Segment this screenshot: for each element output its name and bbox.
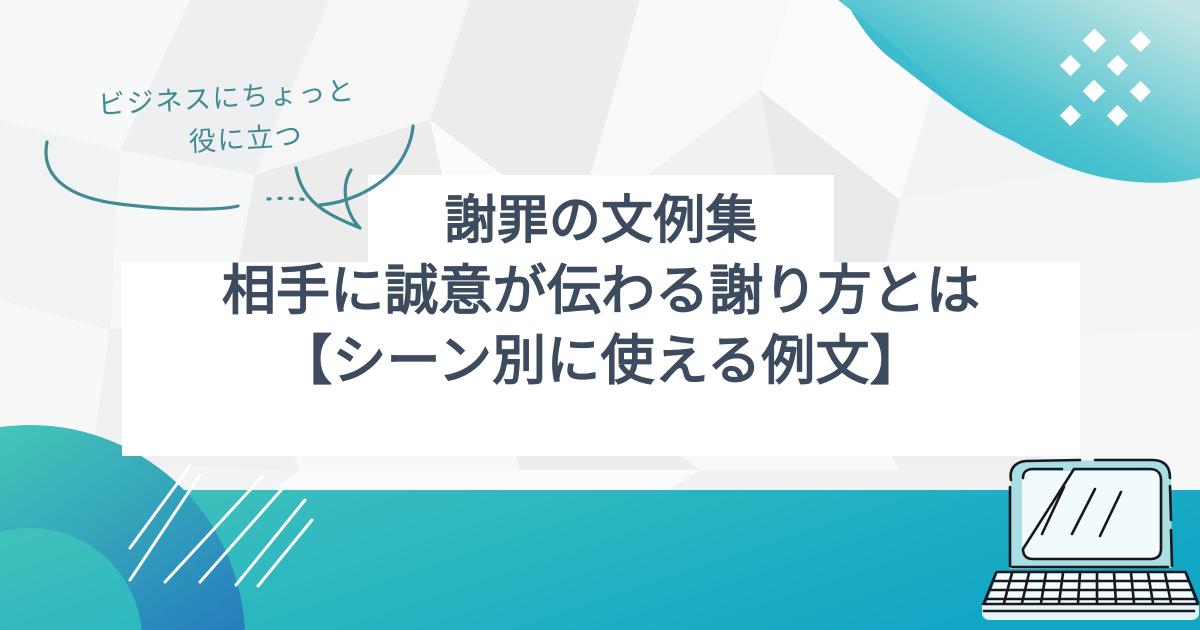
title-line-2: 相手に誠意が伝わる謝り方とは bbox=[122, 256, 1080, 326]
tagline: ビジネスにちょっと 役に立つ bbox=[46, 68, 410, 172]
page-title: 謝罪の文例集 相手に誠意が伝わる謝り方とは 【シーン別に使える例文】 bbox=[122, 188, 1080, 396]
title-line-1: 謝罪の文例集 bbox=[122, 188, 1080, 256]
poster-canvas: ビジネスにちょっと 役に立つ 謝罪の文例集 相手に誠意が伝わる謝り方とは 【シー… bbox=[0, 0, 1200, 630]
title-line-3: 【シーン別に使える例文】 bbox=[122, 326, 1080, 396]
